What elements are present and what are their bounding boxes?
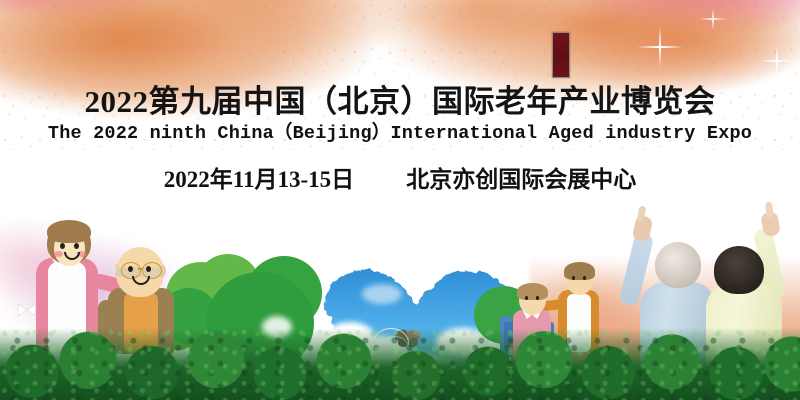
caregiver-hair-top bbox=[47, 220, 91, 243]
cloud bbox=[362, 284, 402, 304]
watercolor-wash-top-center bbox=[380, 0, 580, 60]
eye bbox=[536, 296, 539, 300]
apron-bow bbox=[16, 302, 38, 318]
red-seal-mark bbox=[552, 32, 570, 78]
photo-man-head bbox=[655, 242, 701, 288]
eye bbox=[60, 243, 65, 249]
sparkle-star-icon bbox=[637, 27, 683, 67]
elderly-woman-hair bbox=[517, 283, 548, 300]
event-venue: 北京亦创国际会展中心 bbox=[406, 168, 636, 191]
eye bbox=[525, 296, 528, 300]
expo-banner: 2022第九届中国（北京）国际老年产业博览会 The 2022 ninth Ch… bbox=[0, 0, 800, 400]
eye bbox=[583, 276, 586, 280]
sparkle-star-icon bbox=[760, 46, 794, 76]
event-info-row: 2022年11月13-15日 北京亦创国际会展中心 bbox=[0, 168, 800, 191]
foliage-texture bbox=[0, 328, 800, 400]
cheek bbox=[54, 251, 63, 257]
page-subtitle-english: The 2022 ninth China（Beijing）Internation… bbox=[0, 125, 800, 144]
sparkle-star-icon bbox=[700, 8, 726, 30]
photo-woman-head bbox=[714, 246, 764, 294]
photo-woman-pointing-finger bbox=[765, 202, 774, 219]
eye bbox=[572, 276, 575, 280]
eye bbox=[74, 243, 79, 249]
glasses-bridge bbox=[138, 268, 143, 270]
page-title: 2022第九届中国（北京）国际老年产业博览会 bbox=[0, 86, 800, 117]
event-date: 2022年11月13-15日 bbox=[164, 168, 354, 191]
caregiver2-hair bbox=[564, 262, 595, 280]
